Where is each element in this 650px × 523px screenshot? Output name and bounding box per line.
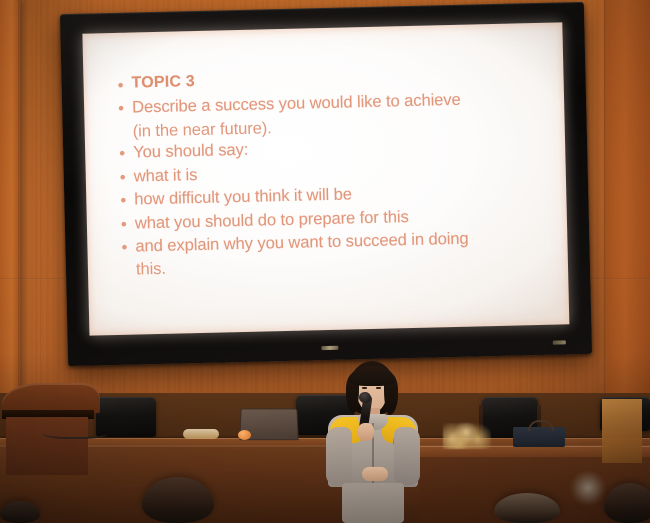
- laptop-cable: [42, 425, 108, 439]
- presenter-eye-right: [376, 387, 381, 389]
- bullet-point-icon: •: [120, 166, 135, 188]
- decorative-tinsel: [570, 471, 606, 505]
- presenter-arm-left: [326, 427, 352, 485]
- bullet-point-icon: •: [120, 190, 135, 212]
- presentation-slide: •TOPIC 3•Describe a success you would li…: [82, 22, 569, 335]
- table-lamp: [602, 399, 642, 463]
- snack-tray: [183, 429, 219, 439]
- bullet-point-icon: •: [121, 213, 136, 235]
- handbag-handle: [528, 420, 554, 431]
- presenter-hand-holding-mic: [358, 423, 374, 441]
- bullet-point-icon: •: [119, 143, 134, 165]
- screen-surface: •TOPIC 3•Describe a success you would li…: [82, 22, 569, 335]
- orange-fruit: [238, 430, 251, 440]
- bullet-point-icon: •: [121, 236, 136, 258]
- audience-head: [494, 493, 560, 523]
- student-presenter: [318, 361, 426, 523]
- screen-brand-logo: [321, 346, 338, 350]
- lecture-hall-photo: •TOPIC 3•Describe a success you would li…: [0, 0, 650, 523]
- presenter-arm-right: [394, 427, 420, 485]
- bullet-point-icon: •: [118, 98, 133, 120]
- bullet-point-icon: •: [117, 75, 132, 97]
- presenter-trousers: [342, 483, 404, 523]
- screen-indicator-label: [553, 340, 566, 344]
- presenter-hand-lower: [362, 467, 388, 481]
- projection-screen: •TOPIC 3•Describe a success you would li…: [60, 2, 592, 366]
- presenter-eye-left: [362, 387, 367, 389]
- audience-head: [0, 501, 40, 523]
- presenter-bangs: [349, 366, 395, 386]
- podium-top: [2, 383, 100, 413]
- dried-flower-arrangement: [443, 423, 491, 449]
